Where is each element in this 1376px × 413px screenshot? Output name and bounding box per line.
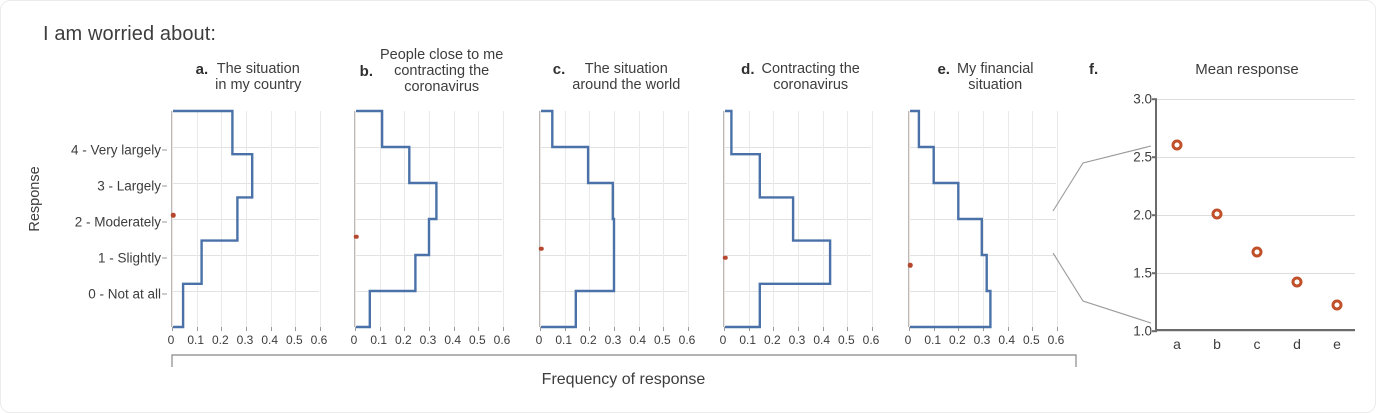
x-tick-label: 0.2 (949, 333, 966, 347)
x-tick-mark (1008, 327, 1009, 331)
x-tick-label: 0.5 (1023, 333, 1040, 347)
x-tick-label: 0.5 (469, 333, 486, 347)
panel-header: b.People close to me contracting the cor… (354, 47, 509, 96)
x-tick-label: 0.5 (838, 333, 855, 347)
x-tick-mark (872, 327, 873, 331)
y-tick-mark (162, 258, 167, 259)
panel-letter: c. (553, 61, 566, 78)
x-tick-mark (404, 327, 405, 331)
panel-title: People close to me contracting the coron… (380, 47, 503, 96)
figure-canvas: I am worried about: Response 0 - Not at … (0, 0, 1376, 413)
x-tick-label: 0.6 (1048, 333, 1065, 347)
x-tick-mark (320, 327, 321, 331)
x-tick-label: 0.2 (764, 333, 781, 347)
x-tick-label: 0.6 (863, 333, 880, 347)
panel-title: My financial situation (957, 61, 1034, 93)
panel-f-x-tick-label: b (1213, 336, 1221, 352)
panel-title: Contracting the coronavirus (762, 61, 860, 93)
x-tick-mark (197, 327, 198, 331)
x-tick-label: 0.5 (286, 333, 303, 347)
x-tick-mark (614, 327, 615, 331)
x-tick-mark (1032, 327, 1033, 331)
x-tick-mark (478, 327, 479, 331)
x-tick-mark (639, 327, 640, 331)
x-tick-mark (540, 327, 541, 331)
panel-header: a.The situation in my country (171, 61, 326, 93)
panel-f-x-tick-label: a (1173, 336, 1181, 352)
x-tick-label: 0.3 (237, 333, 254, 347)
x-tick-mark (355, 327, 356, 331)
mean-response-dot (539, 246, 544, 251)
panel-f-gridline (1157, 331, 1355, 332)
x-tick-label: 0.3 (974, 333, 991, 347)
x-tick-label: 0.3 (420, 333, 437, 347)
x-tick-mark (221, 327, 222, 331)
panel-f-y-tick-mark (1152, 214, 1157, 216)
panel-f-y-tick-mark (1152, 272, 1157, 274)
x-tick-label: 0.2 (580, 333, 597, 347)
x-tick-label: 0.1 (370, 333, 387, 347)
mean-response-dot (354, 234, 359, 239)
mean-response-dot (171, 213, 176, 218)
x-tick-label: 0.1 (739, 333, 756, 347)
frequency-bracket (171, 353, 1077, 369)
panel-f: f. Mean response 1.01.52.02.53.0abcde (1081, 57, 1376, 357)
y-tick-mark (162, 222, 167, 223)
panel-f-x-tick-label: c (1254, 336, 1261, 352)
mean-response-dot (908, 263, 913, 268)
y-tick-label: 4 - Very largely (31, 143, 161, 158)
x-tick-label: 0.4 (444, 333, 461, 347)
x-tick-mark (847, 327, 848, 331)
x-tick-label: 0.1 (555, 333, 572, 347)
panel-f-y-tick-label: 1.5 (1133, 266, 1152, 281)
panel-f-gridline (1157, 215, 1355, 216)
x-tick-label: 0.4 (998, 333, 1015, 347)
panel-f-data-point (1212, 208, 1223, 219)
step-histogram-line (724, 111, 872, 327)
x-tick-label: 0.5 (654, 333, 671, 347)
x-tick-label: 0.2 (395, 333, 412, 347)
x-tick-label: 0.2 (212, 333, 229, 347)
x-tick-mark (454, 327, 455, 331)
x-tick-mark (798, 327, 799, 331)
x-tick-label: 0 (351, 333, 358, 347)
panel-letter: b. (360, 63, 373, 80)
step-histogram-line (540, 111, 688, 327)
step-histogram-line (172, 111, 320, 327)
y-tick-label: 0 - Not at all (31, 287, 161, 302)
x-tick-mark (429, 327, 430, 331)
x-tick-mark (246, 327, 247, 331)
x-tick-label: 0.6 (494, 333, 511, 347)
x-tick-mark (688, 327, 689, 331)
x-tick-label: 0.3 (605, 333, 622, 347)
x-tick-labels: 00.10.20.30.40.50.6 (723, 333, 878, 351)
gridline-vertical (688, 111, 689, 327)
x-tick-mark (172, 327, 173, 331)
figure-heading: I am worried about: (43, 23, 216, 46)
x-tick-labels: 00.10.20.30.40.50.6 (354, 333, 509, 351)
gridline-vertical (320, 111, 321, 327)
panel-f-y-tick-mark (1152, 98, 1157, 100)
y-tick-label: 2 - Moderately (31, 215, 161, 230)
panel-letter: a. (196, 61, 209, 78)
panel-f-letter: f. (1089, 61, 1098, 78)
panel-letter: e. (937, 61, 950, 78)
panel-f-gridline (1157, 99, 1355, 100)
x-tick-label: 0 (720, 333, 727, 347)
x-tick-mark (503, 327, 504, 331)
mean-response-dot (723, 256, 728, 261)
panel-title: The situation in my country (215, 61, 301, 93)
panel-f-data-point (1252, 247, 1263, 258)
plot-area (354, 111, 502, 327)
x-tick-mark (773, 327, 774, 331)
panel-header: d.Contracting the coronavirus (723, 61, 878, 93)
plot-area (539, 111, 687, 327)
x-tick-label: 0.1 (924, 333, 941, 347)
panel-f-gridline (1157, 273, 1355, 274)
panel-f-x-tick-label: d (1293, 336, 1301, 352)
x-tick-label: 0.4 (813, 333, 830, 347)
x-tick-label: 0 (536, 333, 543, 347)
y-tick-label: 3 - Largely (31, 179, 161, 194)
panel-f-data-point (1292, 277, 1303, 288)
panel-f-plot-area: 1.01.52.02.53.0abcde (1155, 99, 1355, 331)
x-tick-label: 0.6 (311, 333, 328, 347)
panel-letter: d. (741, 61, 754, 78)
panel-f-data-point (1172, 140, 1183, 151)
x-tick-mark (724, 327, 725, 331)
gridline-vertical (503, 111, 504, 327)
x-tick-mark (909, 327, 910, 331)
panel-f-y-tick-label: 2.0 (1133, 208, 1152, 223)
x-tick-label: 0 (168, 333, 175, 347)
x-tick-mark (271, 327, 272, 331)
x-tick-label: 0.1 (187, 333, 204, 347)
x-tick-mark (295, 327, 296, 331)
x-tick-mark (823, 327, 824, 331)
panel-f-y-tick-label: 1.0 (1133, 324, 1152, 339)
step-histogram-line (355, 111, 503, 327)
y-tick-mark (162, 294, 167, 295)
panel-f-y-tick-mark (1152, 156, 1157, 158)
y-tick-mark (162, 150, 167, 151)
x-tick-label: 0.4 (261, 333, 278, 347)
x-tick-mark (589, 327, 590, 331)
x-tick-label: 0 (905, 333, 912, 347)
x-tick-mark (663, 327, 664, 331)
x-tick-mark (380, 327, 381, 331)
y-tick-label: 1 - Slightly (31, 251, 161, 266)
x-tick-label: 0.3 (789, 333, 806, 347)
plot-area (723, 111, 871, 327)
panel-f-title: Mean response (1127, 61, 1367, 78)
x-tick-mark (1057, 327, 1058, 331)
x-axis-title: Frequency of response (171, 371, 1076, 389)
y-axis-tick-labels: 0 - Not at all1 - Slightly2 - Moderately… (37, 109, 167, 325)
x-tick-labels: 00.10.20.30.40.50.6 (908, 333, 1063, 351)
panel-header: c.The situation around the world (539, 61, 694, 93)
x-tick-labels: 00.10.20.30.40.50.6 (171, 333, 326, 351)
x-tick-label: 0.6 (679, 333, 696, 347)
x-tick-label: 0.4 (629, 333, 646, 347)
panel-f-gridline (1157, 157, 1355, 158)
panel-title: The situation around the world (572, 61, 680, 93)
panel-f-x-tick-label: e (1333, 336, 1341, 352)
plot-area (171, 111, 319, 327)
panel-f-y-tick-label: 2.5 (1133, 150, 1152, 165)
x-tick-labels: 00.10.20.30.40.50.6 (539, 333, 694, 351)
y-tick-mark (162, 186, 167, 187)
panel-f-y-tick-mark (1152, 330, 1157, 332)
panel-header: e.My financial situation (908, 61, 1063, 93)
panel-f-y-tick-label: 3.0 (1133, 92, 1152, 107)
panel-f-data-point (1332, 300, 1343, 311)
gridline-vertical (872, 111, 873, 327)
